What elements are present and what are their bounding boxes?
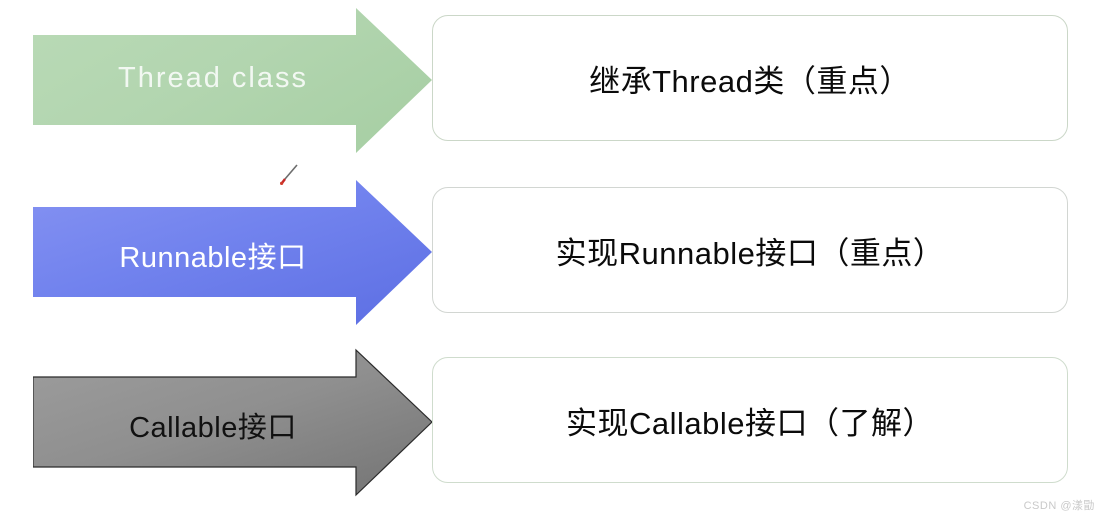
arrow-label-runnable: Runnable接口 xyxy=(33,234,393,276)
result-text-thread: 继承Thread类（重点） xyxy=(589,56,911,101)
diagram-row-runnable: Runnable接口 实现Runnable接口（重点） xyxy=(0,172,1105,337)
result-text-callable: 实现Callable接口（了解） xyxy=(566,398,934,443)
csdn-watermark: CSDN @漾勖 xyxy=(1024,497,1095,513)
result-box-thread: 继承Thread类（重点） xyxy=(432,15,1068,141)
diagram-row-thread: Thread class 继承Thread类（重点） xyxy=(0,0,1105,165)
result-box-callable: 实现Callable接口（了解） xyxy=(432,357,1068,483)
arrow-label-thread: Thread class xyxy=(33,62,393,95)
arrow-label-callable: Callable接口 xyxy=(33,404,393,446)
slide-canvas: Thread class 继承Thread类（重点） xyxy=(0,0,1105,519)
result-box-runnable: 实现Runnable接口（重点） xyxy=(432,187,1068,313)
result-text-runnable: 实现Runnable接口（重点） xyxy=(556,228,945,273)
diagram-row-callable: Callable接口 实现Callable接口（了解） xyxy=(0,342,1105,512)
